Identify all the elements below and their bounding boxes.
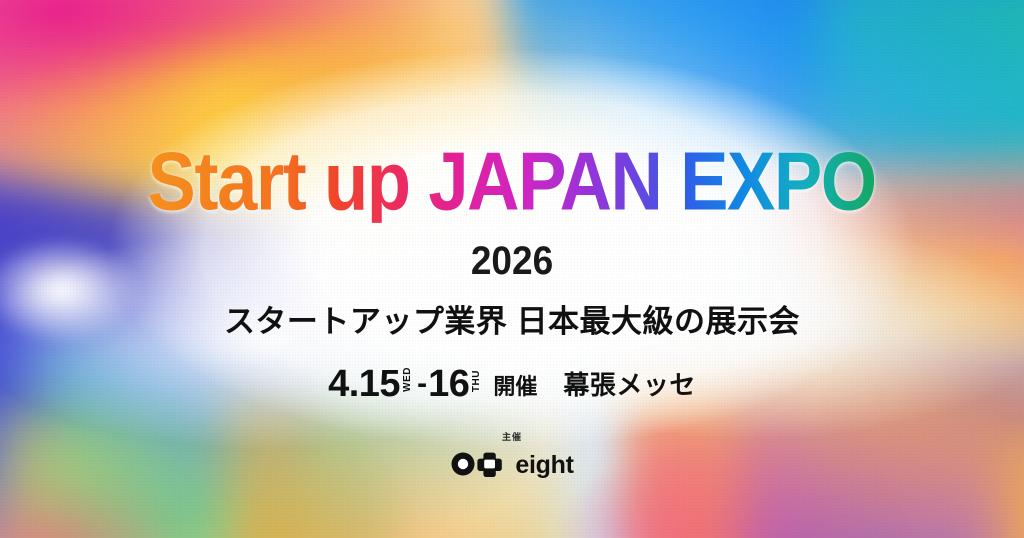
poster-lockup: Start up JAPAN EXPO 2026 スタートアップ業界 日本最大級… <box>0 0 1024 538</box>
date-end-day: 16 <box>428 365 469 403</box>
date-start-dayofweek: WED <box>403 367 413 392</box>
poster-canvas: Start up JAPAN EXPO 2026 スタートアップ業界 日本最大級… <box>0 0 1024 538</box>
date-range-dash: - <box>417 369 427 399</box>
eight-logo-text: eight <box>515 453 573 478</box>
event-title: Start up JAPAN EXPO <box>148 140 876 223</box>
eight-logo: eight <box>450 450 573 478</box>
date-end-dayofweek: THU <box>472 370 482 392</box>
eight-logo-icon <box>450 450 506 478</box>
sponsor-block: 主催 eight <box>450 430 573 478</box>
event-dateline: 4.15 WED - 16 THU 開催 幕張メッセ <box>328 365 696 404</box>
event-tagline: スタートアップ業界 日本最大級の展示会 <box>224 296 800 341</box>
date-start-day: 4.15 <box>328 365 400 403</box>
date-suffix-kaisai: 開催 <box>493 369 537 401</box>
sponsor-label: 主催 <box>502 430 522 443</box>
event-year: 2026 <box>471 238 553 283</box>
event-venue: 幕張メッセ <box>563 365 696 402</box>
